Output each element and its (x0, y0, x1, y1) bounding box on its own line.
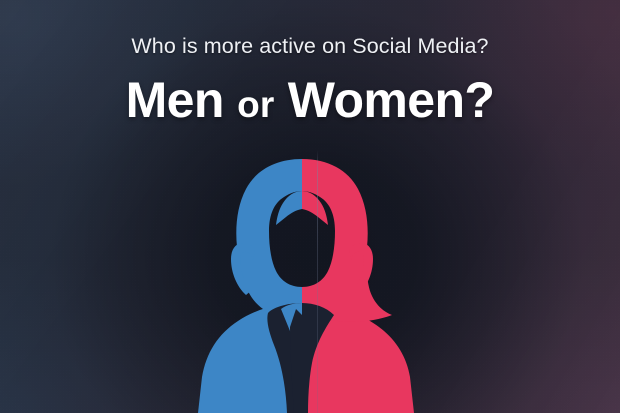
title-word-men: Men (126, 72, 224, 128)
male-hair (236, 159, 302, 321)
headline-block: Who is more active on Social Media? Men … (0, 36, 620, 127)
female-half (302, 159, 414, 413)
social-media-gender-poster: Who is more active on Social Media? Men … (0, 0, 620, 413)
female-hair (302, 159, 392, 322)
title-word-women: Women? (288, 72, 495, 128)
title-conjunction-or: or (237, 84, 274, 125)
split-gender-avatar-icon (186, 151, 434, 413)
poster-title: Men or Women? (0, 74, 620, 127)
split-avatar-illustration (0, 151, 620, 413)
poster-subtitle: Who is more active on Social Media? (0, 36, 620, 58)
